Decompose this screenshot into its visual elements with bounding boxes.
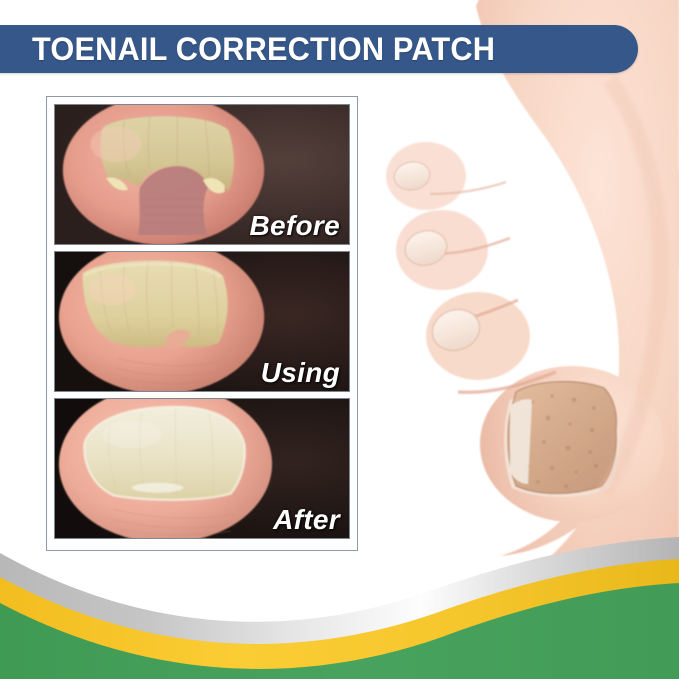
product-poster: TOENAIL CORRECTION PATCH [0, 0, 679, 679]
before-using-after-collage: Before [46, 96, 358, 551]
title-banner: TOENAIL CORRECTION PATCH [0, 25, 638, 73]
collage-panel-before: Before [54, 104, 350, 245]
toenail-correction-patch [508, 382, 617, 494]
before-photo [55, 105, 349, 244]
collage-panel-using: Using [54, 251, 350, 392]
after-photo [55, 399, 349, 538]
foot-illustration [360, 0, 679, 585]
collage-panel-after: After [54, 398, 350, 539]
page-title: TOENAIL CORRECTION PATCH [32, 33, 495, 65]
product-photo-foot [360, 0, 679, 585]
bottom-wave-decoration [0, 519, 679, 679]
using-photo [55, 252, 349, 391]
wave-svg [0, 519, 679, 679]
